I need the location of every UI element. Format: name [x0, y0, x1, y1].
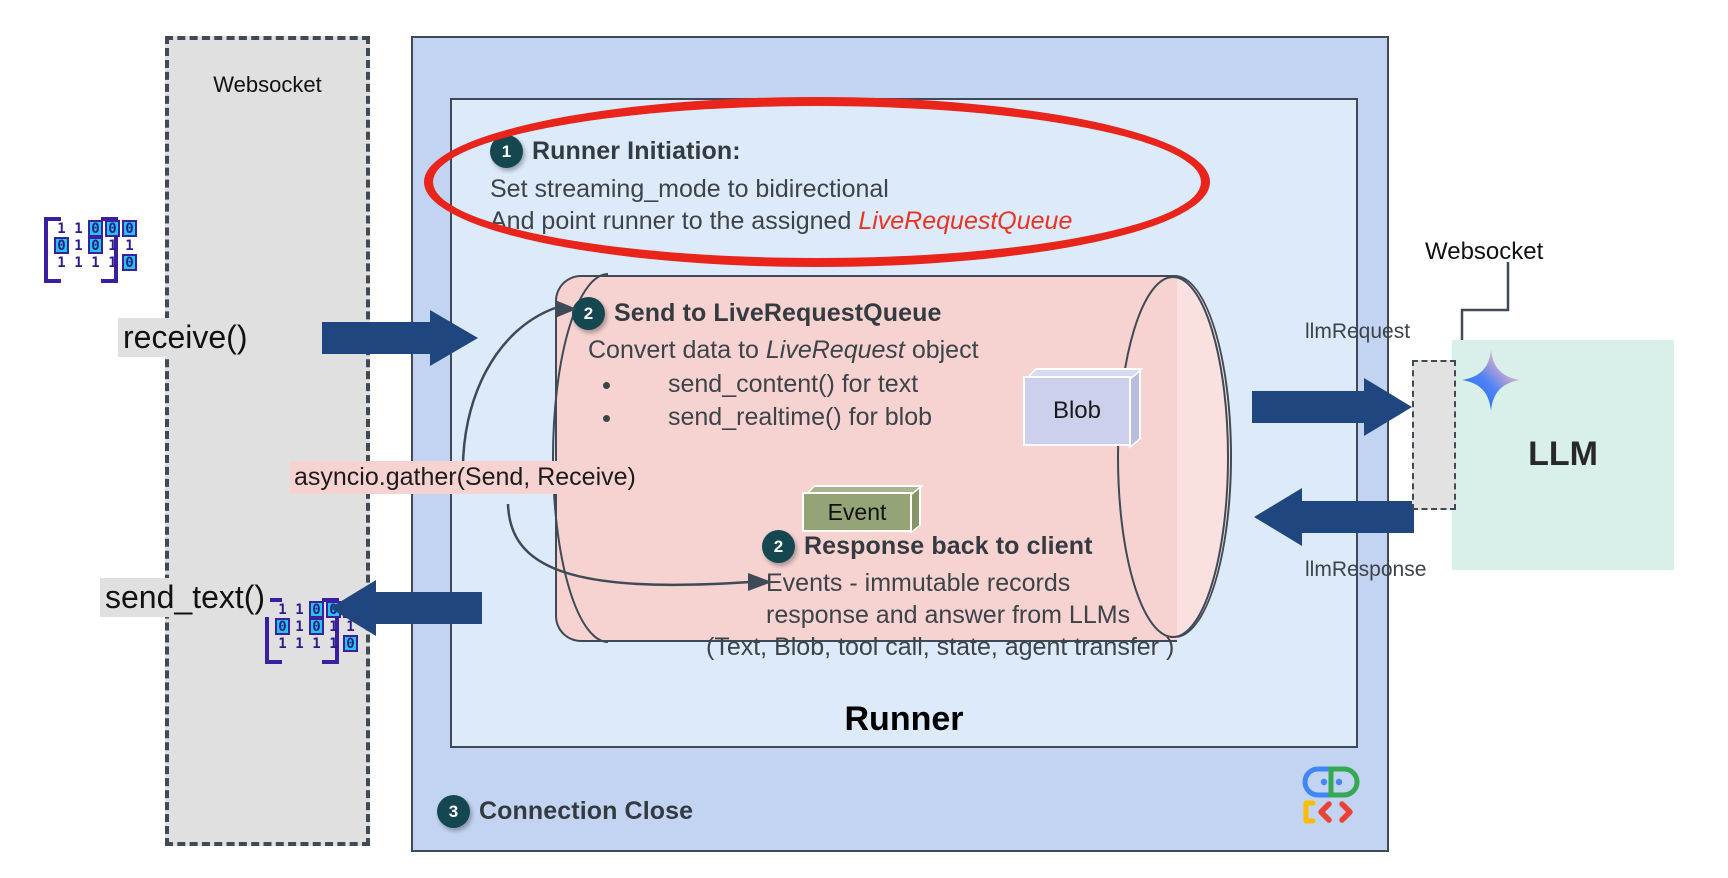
event-box: Event: [802, 492, 912, 532]
websocket-client-panel: [165, 36, 370, 846]
step-2-send-line-1-prefix: Convert data to: [588, 336, 766, 364]
llm-websocket-endpoint: [1412, 360, 1456, 510]
send-text-label: send_text(): [100, 578, 270, 617]
response-curve-arrow: [500, 498, 790, 608]
blob-box: Blob: [1023, 376, 1131, 446]
step-2-send-heading-row: 2 Send to LiveRequestQueue: [572, 297, 1132, 330]
bit: 1: [292, 635, 307, 652]
bit: 0: [309, 601, 324, 618]
llm-request-label: llmRequest: [1305, 320, 1410, 344]
bit: 1: [122, 237, 137, 254]
bit: 0: [275, 618, 290, 635]
binary-row: 11110: [275, 635, 358, 652]
receive-arrow-right: [322, 310, 480, 366]
bit: 0: [105, 220, 120, 237]
bit: 1: [54, 220, 69, 237]
bit: 1: [71, 237, 86, 254]
step-3-heading-row: 3 Connection Close: [437, 795, 693, 828]
step-2-response-line-2: response and answer from LLMs: [766, 599, 1322, 631]
bit: 1: [71, 220, 86, 237]
step-2-response-heading-row: 2 Response back to client: [762, 530, 1322, 563]
bit: 0: [343, 635, 358, 652]
bit: 1: [309, 635, 324, 652]
bit: 1: [105, 254, 120, 271]
asyncio-gather-label: asyncio.gather(Send, Receive): [290, 461, 640, 494]
bit: 0: [88, 220, 103, 237]
bit: 0: [54, 237, 69, 254]
bit: 1: [326, 635, 341, 652]
step-3-block: 3 Connection Close: [437, 795, 693, 828]
bit: 1: [88, 254, 103, 271]
llm-request-arrow-right: [1252, 378, 1414, 436]
highlight-ellipse: [424, 97, 1210, 267]
step-2-response-block: 2 Response back to client Events - immut…: [762, 530, 1322, 663]
step-2-send-line-1-suffix: object: [905, 336, 979, 364]
step-2-response-heading: Response back to client: [804, 532, 1093, 561]
llm-label: LLM: [1452, 435, 1674, 474]
bit: 0: [88, 237, 103, 254]
step-2-response-line-1: Events - immutable records: [766, 567, 1322, 599]
receive-label: receive(): [118, 318, 252, 357]
bit: 1: [71, 254, 86, 271]
bit: 1: [292, 618, 307, 635]
binary-row: 01011: [54, 237, 137, 254]
bit: 1: [54, 254, 69, 271]
step-2-send-line-1: Convert data to LiveRequest object: [588, 334, 1132, 366]
bit: 0: [122, 220, 137, 237]
gemini-sparkle-icon: [1462, 350, 1522, 412]
step-2-send-heading: Send to LiveRequestQueue: [614, 299, 941, 328]
bit: 0: [122, 254, 137, 271]
bit: 0: [309, 618, 324, 635]
adk-logo-icon: [1300, 765, 1362, 827]
bit: 1: [275, 635, 290, 652]
bit: 1: [105, 237, 120, 254]
step-3-badge: 3: [437, 795, 470, 828]
step-3-heading: Connection Close: [479, 797, 693, 826]
llm-response-arrow-left: [1252, 488, 1414, 546]
llm-response-label: llmResponse: [1305, 558, 1426, 582]
binary-row: 11110: [54, 254, 137, 271]
send-text-arrow-left: [330, 580, 482, 636]
websocket-client-label: Websocket: [165, 72, 370, 98]
diagram-canvas: Websocket 11000 01011 11110 11000 01011: [0, 0, 1728, 878]
bit: 1: [292, 601, 307, 618]
binary-row: 11000: [54, 220, 137, 237]
bit: 1: [275, 601, 290, 618]
step-2-send-line-1-italic: LiveRequest: [766, 336, 905, 364]
step-2-response-line-3: (Text, Blob, tool call, state, agent tra…: [706, 631, 1322, 663]
runner-title: Runner: [450, 700, 1358, 739]
